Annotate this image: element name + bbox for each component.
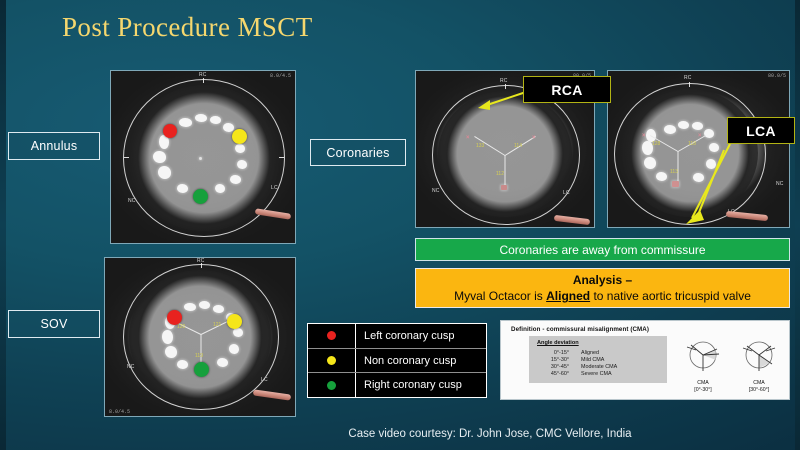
footer-credit: Case video courtesy: Dr. John Jose, CMC … [0, 428, 800, 440]
cma-grade: Moderate CMA [581, 363, 659, 370]
analysis-emphasis: Aligned [546, 289, 590, 303]
stent-strut [656, 172, 667, 181]
label-sov: SOV [8, 310, 100, 338]
stent-strut [158, 166, 171, 179]
cma-range: 45°-60° [537, 371, 581, 378]
legend-label: Left coronary cusp [356, 330, 455, 342]
stent-strut [678, 121, 689, 129]
cma-range: 0°-15° [537, 349, 581, 356]
stent-strut [195, 114, 207, 122]
ct-mark-nc: NC [127, 364, 135, 370]
cusp-marker-non [227, 314, 242, 329]
cusp-marker-right [194, 362, 209, 377]
analysis-text-before: Myval Octacor is [454, 289, 546, 303]
stent-strut [177, 360, 188, 369]
stent-strut [215, 184, 225, 193]
cusp-marker-left [167, 310, 182, 325]
cma-grade: Mild CMA [581, 356, 659, 363]
stent-strut [213, 305, 224, 313]
legend-label: Right coronary cusp [356, 379, 462, 391]
analysis-text: Myval Octacor is Aligned to native aorti… [454, 288, 751, 304]
stent-strut [184, 303, 196, 311]
legend-row: Right coronary cusp [308, 373, 486, 397]
stent-strut [210, 116, 221, 124]
legend-swatch-right-cusp [308, 373, 356, 397]
stent-strut [644, 157, 656, 169]
banner-green-text: Coronaries are away from commissure [499, 243, 705, 257]
tick-top [689, 82, 690, 87]
stent-strut [229, 344, 239, 354]
ct-mark-nc: NC [432, 188, 440, 194]
ct-mark-rc: RC [197, 258, 205, 264]
measurement-line [678, 152, 679, 184]
ct-mark-lc: LC [271, 185, 278, 191]
legend-row: Non coronary cusp [308, 349, 486, 374]
tick-top [505, 84, 506, 89]
callout-lca: LCA [727, 117, 795, 144]
cma-figure-moderate: CMA[30°-60°] [739, 338, 779, 394]
stent-strut [706, 159, 716, 169]
label-annulus: Annulus [8, 132, 100, 160]
ct-image-sov: RC NC LC 8.0/4.5 120 121 119 [104, 257, 296, 417]
tick-left [124, 157, 129, 158]
cma-fig-range: [30°-60°] [749, 387, 769, 393]
cma-grade: Severe CMA [581, 371, 659, 378]
cma-definition-panel: Definition - commissural misalignment (C… [500, 320, 790, 400]
banner-analysis: Analysis – Myval Octacor is Aligned to n… [415, 268, 790, 308]
stent-strut [692, 122, 703, 130]
marker-point [501, 185, 507, 190]
ct-mark-rc: RC [684, 75, 692, 81]
ct-corner-info: 80.0/5 [768, 73, 786, 79]
callout-rca: RCA [523, 76, 611, 103]
ct-image-annulus: RC NC LC 8.0/4.5 [110, 70, 296, 244]
stent-strut [179, 118, 192, 127]
cusp-marker-non [232, 129, 247, 144]
ct-mark-lc: LC [261, 377, 268, 383]
ct-mark-lc: LC [563, 190, 570, 196]
stent-strut [693, 173, 704, 182]
ct-mark-rc: RC [199, 72, 207, 78]
marker-point [672, 181, 679, 187]
slide-canvas: Post Procedure MSCT RC NC LC 8.0/4.5 [0, 0, 800, 450]
stent-strut [153, 151, 166, 163]
footer-credit-text: Case video courtesy: Dr. John Jose, CMC … [348, 428, 631, 440]
cma-grade: Aligned [581, 349, 659, 356]
stent-strut [217, 358, 228, 367]
stent-strut [704, 129, 714, 138]
ct-corner-info: 8.0/4.5 [109, 409, 130, 415]
analysis-heading: Analysis – [573, 272, 632, 288]
banner-coronaries-status: Coronaries are away from commissure [415, 238, 790, 261]
legend-label: Non coronary cusp [356, 355, 456, 367]
measurement-circle [614, 83, 766, 225]
legend-swatch-non-cusp [308, 349, 356, 373]
cma-fig-name: CMA [697, 380, 709, 386]
table-row: 0°-15° Aligned [537, 349, 659, 356]
cma-range: 15°-30° [537, 356, 581, 363]
table-row: 45°-60° Severe CMA [537, 371, 659, 378]
analysis-text-after: to native aortic tricuspid valve [590, 289, 751, 303]
stent-strut [237, 160, 247, 169]
tick-top [203, 78, 204, 83]
cusp-marker-right [193, 189, 208, 204]
center-marker [199, 157, 202, 160]
stent-strut [162, 330, 173, 344]
table-row: 15°-30° Mild CMA [537, 356, 659, 363]
cma-diagram-0-30-icon [683, 338, 723, 374]
legend-swatch-left-cusp [308, 324, 356, 348]
cma-fig-name: CMA [753, 380, 765, 386]
ct-mark-nc: NC [128, 198, 136, 204]
stent-strut [177, 184, 188, 193]
cusp-marker-left [163, 124, 177, 138]
cma-table-header: Angle deviation [537, 340, 659, 346]
cma-figure-mild: CMA[0°-30°] [683, 338, 723, 394]
cma-range: 30°-45° [537, 363, 581, 370]
cusp-color-legend: Left coronary cusp Non coronary cusp Rig… [307, 323, 487, 398]
table-row: 30°-45° Moderate CMA [537, 363, 659, 370]
label-coronaries: Coronaries [310, 139, 406, 166]
page-title: Post Procedure MSCT [62, 12, 313, 43]
ct-image-lca: RC NC LC 80.0/5 × × 128 118 113 [607, 70, 790, 228]
tick-right [279, 157, 284, 158]
stent-strut [233, 328, 243, 337]
cma-diagram-30-60-icon [739, 338, 779, 374]
stent-strut [709, 143, 719, 152]
stent-strut [165, 346, 177, 358]
cma-panel-title: Definition - commissural misalignment (C… [511, 326, 783, 333]
stent-strut [199, 301, 210, 309]
stent-strut [223, 123, 234, 132]
legend-row: Left coronary cusp [308, 324, 486, 349]
ct-mark-rc: RC [500, 78, 508, 84]
ct-mark-nc: NC [776, 181, 784, 187]
stent-strut [230, 175, 241, 184]
stent-strut [664, 125, 676, 134]
cma-angle-table: Angle deviation 0°-15° Aligned 15°-30° M… [529, 336, 667, 383]
stent-strut [235, 144, 245, 153]
ct-corner-info: 8.0/4.5 [270, 73, 291, 79]
cma-fig-range: [0°-30°] [694, 387, 711, 393]
